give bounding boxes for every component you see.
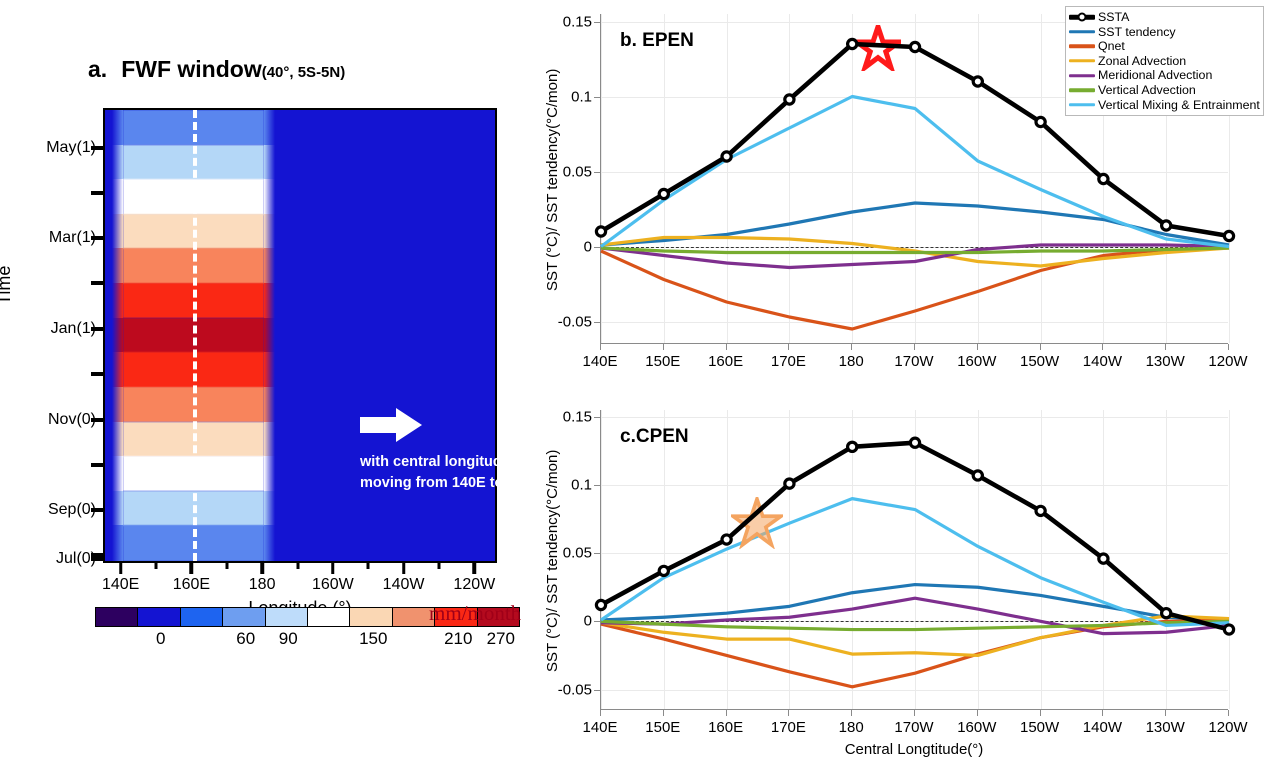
ssta-data-point xyxy=(722,152,731,161)
colorbar-segment xyxy=(138,608,180,626)
panel-a-y-ticks xyxy=(85,108,103,563)
ssta-data-point xyxy=(1036,117,1045,126)
x-tick xyxy=(851,710,852,716)
legend: SSTASST tendencyQnetZonal AdvectionMerid… xyxy=(1065,6,1264,116)
panel-a-y-tick-minor xyxy=(91,281,103,285)
legend-label: Meridional Advection xyxy=(1098,69,1212,81)
ssta-data-point xyxy=(659,566,668,575)
legend-label: Qnet xyxy=(1098,40,1125,52)
x-axis-title: Central Longtitude(°) xyxy=(600,741,1228,758)
y-tick-label: 0.1 xyxy=(571,88,592,105)
gridline-vertical xyxy=(1229,410,1230,709)
panel-c-cpen: c.CPENSST (°C)/ SST tendency(°C/mon)-0.0… xyxy=(530,392,1269,779)
colorbar-tick-label: 60 xyxy=(236,629,255,649)
heatmap-band xyxy=(105,525,495,560)
x-tick xyxy=(851,344,852,350)
x-tick xyxy=(663,344,664,350)
x-tick-label: 150W xyxy=(1020,353,1059,370)
x-tick xyxy=(663,710,664,716)
colorbar-tick-label: 0 xyxy=(156,629,165,649)
panel-a-x-tick-label: 120W xyxy=(453,576,495,594)
y-tick xyxy=(594,485,600,486)
colorbar-group: mm/month 06090150210270 xyxy=(95,607,520,653)
legend-color-swatch xyxy=(1069,69,1095,83)
y-tick xyxy=(594,417,600,418)
ssta-data-point xyxy=(1099,554,1108,563)
legend-label: SST tendency xyxy=(1098,26,1176,38)
legend-color-swatch xyxy=(1069,25,1095,39)
x-tick-label: 150E xyxy=(645,353,680,370)
x-tick-label: 170W xyxy=(894,719,933,736)
ssta-data-point xyxy=(785,479,794,488)
y-tick-label: -0.05 xyxy=(558,313,592,330)
legend-item: SSTA xyxy=(1069,10,1259,25)
ssta-line xyxy=(601,443,1229,630)
x-tick xyxy=(1228,710,1229,716)
ssta-data-point xyxy=(596,600,605,609)
x-tick-label: 160W xyxy=(957,353,996,370)
panel-a-x-tick xyxy=(119,563,123,574)
heatmap-band xyxy=(105,491,495,526)
x-tick xyxy=(726,710,727,716)
figure-root: a.FWF window(40°, 5S-5N) Time May(1)Mar(… xyxy=(0,0,1269,779)
heatmap-band xyxy=(105,110,495,145)
x-tick xyxy=(1165,344,1166,350)
y-tick-label: -0.05 xyxy=(558,681,592,698)
panel-a-x-tick-labels: 140E160E180160W140W120W xyxy=(103,576,497,598)
ssta-data-point xyxy=(785,95,794,104)
panel-a-y-tick xyxy=(91,236,103,240)
x-tick xyxy=(600,344,601,350)
x-tick xyxy=(914,710,915,716)
panel-a-y-tick xyxy=(91,557,103,561)
x-tick-label: 130W xyxy=(1146,719,1185,736)
panel-a-y-tick-labels: May(1)Mar(1)Jan(1)Nov(0)Sep(0)Jul(0) xyxy=(0,108,96,563)
x-tick-label: 140E xyxy=(582,719,617,736)
colorbar-segment xyxy=(308,608,350,626)
ssta-data-point xyxy=(1099,174,1108,183)
ssta-data-point xyxy=(848,442,857,451)
y-tick-label: 0.1 xyxy=(571,477,592,494)
y-tick-label: 0 xyxy=(584,238,592,255)
ssta-data-point xyxy=(1224,231,1233,240)
legend-marker-icon xyxy=(1078,13,1087,22)
panel-a-x-tick-label: 160W xyxy=(312,576,354,594)
panel-a-y-tick-minor xyxy=(91,463,103,467)
legend-item: Qnet xyxy=(1069,39,1259,54)
y-axis-title: SST (°C)/ SST tendency(°C/mon) xyxy=(544,450,561,672)
x-tick xyxy=(977,344,978,350)
panel-a-y-tick xyxy=(91,508,103,512)
panel-a-title: a.FWF window(40°, 5S-5N) xyxy=(88,56,488,83)
legend-label: Vertical Advection xyxy=(1098,84,1196,96)
x-tick-label: 140W xyxy=(1083,719,1122,736)
x-tick-label: 140E xyxy=(582,353,617,370)
x-tick xyxy=(1040,710,1041,716)
panel-a-x-tick-minor xyxy=(225,563,228,569)
ssta-data-point xyxy=(1162,221,1171,230)
panel-a-subtitle: (40°, 5S-5N) xyxy=(262,64,346,81)
heatmap-band xyxy=(105,352,495,387)
ssta-data-point xyxy=(659,189,668,198)
x-tick xyxy=(726,344,727,350)
panel-a-x-tick xyxy=(260,563,264,574)
panel-a-x-tick xyxy=(473,563,477,574)
y-tick xyxy=(594,247,600,248)
x-tick-label: 140W xyxy=(1083,353,1122,370)
x-tick-label: 180 xyxy=(839,353,864,370)
x-tick-label: 170E xyxy=(771,719,806,736)
legend-item: Zonal Advection xyxy=(1069,54,1259,69)
panel-a-y-tick xyxy=(91,418,103,422)
colorbar-segment xyxy=(266,608,308,626)
panel-a-fwf-window: a.FWF window(40°, 5S-5N) Time May(1)Mar(… xyxy=(0,0,530,700)
panel-a-x-tick-label: 140W xyxy=(383,576,425,594)
legend-color-swatch xyxy=(1069,10,1095,24)
panel-a-x-tick xyxy=(190,563,194,574)
x-tick xyxy=(977,710,978,716)
heatmap-band xyxy=(105,214,495,249)
legend-item: SST tendency xyxy=(1069,25,1259,40)
legend-label: SSTA xyxy=(1098,11,1129,23)
x-tick xyxy=(1040,344,1041,350)
colorbar-unit-label: mm/month xyxy=(429,601,521,626)
panel-a-x-tick-minor xyxy=(296,563,299,569)
panel-a-x-ticks xyxy=(103,563,497,575)
legend-item: Vertical Mixing & Entrainment xyxy=(1069,98,1259,113)
ssta-data-point xyxy=(596,227,605,236)
ssta-data-point xyxy=(1036,506,1045,515)
panel-a-title-main: FWF window xyxy=(121,56,262,82)
panel-title: c.CPEN xyxy=(620,426,689,448)
panel-a-y-tick xyxy=(91,327,103,331)
y-tick-label: 0 xyxy=(584,613,592,630)
x-tick-label: 170W xyxy=(894,353,933,370)
central-longitude-dashed-line xyxy=(193,110,197,561)
colorbar-tick-label: 150 xyxy=(359,629,387,649)
colorbar-segment xyxy=(181,608,223,626)
heatmap-band xyxy=(105,145,495,180)
colorbar-tick-label: 210 xyxy=(444,629,472,649)
ssta-layer xyxy=(601,410,1229,710)
x-tick xyxy=(788,710,789,716)
x-tick xyxy=(1228,344,1229,350)
y-tick xyxy=(594,553,600,554)
y-tick-label: 0.05 xyxy=(563,163,592,180)
ssta-data-point xyxy=(910,438,919,447)
x-tick-label: 160E xyxy=(708,353,743,370)
panel-a-y-tick-minor xyxy=(91,191,103,195)
legend-label: Zonal Advection xyxy=(1098,55,1186,67)
colorbar-segment xyxy=(96,608,138,626)
x-tick xyxy=(788,344,789,350)
x-tick xyxy=(600,710,601,716)
legend-item: Vertical Advection xyxy=(1069,83,1259,98)
y-tick xyxy=(594,172,600,173)
panel-a-x-tick-minor xyxy=(437,563,440,569)
plot-area xyxy=(600,410,1228,710)
panel-a-x-tick-label: 180 xyxy=(249,576,276,594)
panel-a-y-tick-minor xyxy=(91,372,103,376)
panel-a-x-tick-minor xyxy=(155,563,158,569)
x-tick-label: 150W xyxy=(1020,719,1059,736)
panel-a-x-tick-minor xyxy=(367,563,370,569)
ssta-data-point xyxy=(848,39,857,48)
panel-title: b. EPEN xyxy=(620,30,694,52)
y-tick-label: 0.15 xyxy=(563,408,592,425)
x-tick-label: 160W xyxy=(957,719,996,736)
panel-a-y-tick xyxy=(91,146,103,150)
x-tick-label: 130W xyxy=(1146,353,1185,370)
legend-color-swatch xyxy=(1069,83,1095,97)
y-tick xyxy=(594,690,600,691)
panel-a-x-tick-label: 160E xyxy=(173,576,210,594)
plot-inner xyxy=(601,410,1228,709)
x-tick xyxy=(1102,710,1103,716)
y-axis-title: SST (°C)/ SST tendency(°C/mon) xyxy=(544,69,561,291)
x-tick-label: 160E xyxy=(708,719,743,736)
colorbar-segment xyxy=(223,608,265,626)
x-tick xyxy=(1102,344,1103,350)
ssta-data-point xyxy=(973,471,982,480)
panel-a-x-tick-label: 140E xyxy=(102,576,139,594)
x-tick-label: 120W xyxy=(1208,353,1247,370)
panel-a-x-tick xyxy=(402,563,406,574)
fwf-heatmap-frame: with central longitude moving from 140E … xyxy=(103,108,497,563)
y-tick xyxy=(594,97,600,98)
legend-color-swatch xyxy=(1069,39,1095,53)
panel-a-y-tick-minor xyxy=(91,553,103,557)
y-tick xyxy=(594,22,600,23)
ssta-data-point xyxy=(722,535,731,544)
legend-color-swatch xyxy=(1069,98,1095,112)
ssta-data-point xyxy=(973,77,982,86)
colorbar-segment xyxy=(350,608,392,626)
legend-color-swatch xyxy=(1069,54,1095,68)
heatmap-band xyxy=(105,179,495,214)
panel-a-label: a. xyxy=(88,56,107,82)
x-tick-label: 150E xyxy=(645,719,680,736)
ssta-data-point xyxy=(910,42,919,51)
heatmap-band xyxy=(105,248,495,283)
panel-a-x-tick xyxy=(331,563,335,574)
colorbar-tick-label: 270 xyxy=(487,629,515,649)
y-tick-label: 0.15 xyxy=(563,13,592,30)
y-tick-label: 0.05 xyxy=(563,545,592,562)
y-tick xyxy=(594,322,600,323)
x-tick xyxy=(1165,710,1166,716)
x-tick-label: 120W xyxy=(1208,719,1247,736)
y-tick xyxy=(594,621,600,622)
x-tick-label: 170E xyxy=(771,353,806,370)
legend-item: Meridional Advection xyxy=(1069,68,1259,83)
heatmap-band xyxy=(105,318,495,353)
colorbar-tick-label: 90 xyxy=(279,629,298,649)
x-tick-label: 180 xyxy=(839,719,864,736)
ssta-data-point xyxy=(1162,609,1171,618)
legend-label: Vertical Mixing & Entrainment xyxy=(1098,99,1260,111)
right-arrow-icon xyxy=(360,408,426,442)
ssta-data-point xyxy=(1224,625,1233,634)
heatmap-band xyxy=(105,283,495,318)
x-tick xyxy=(914,344,915,350)
